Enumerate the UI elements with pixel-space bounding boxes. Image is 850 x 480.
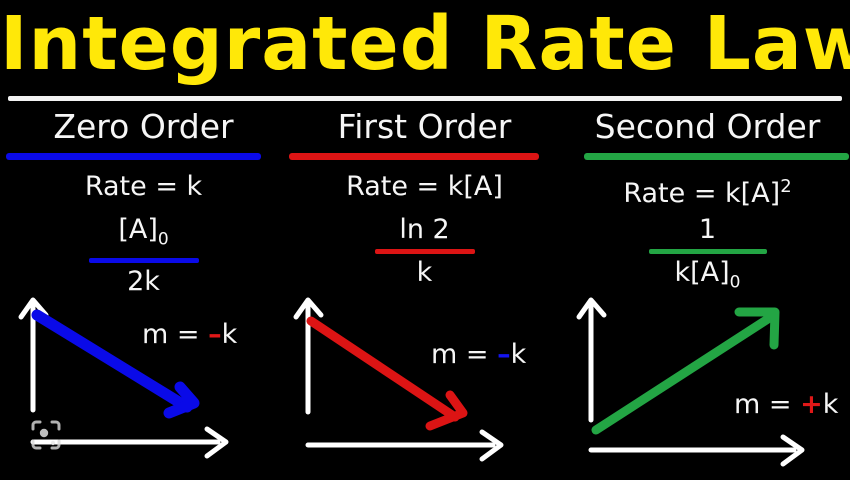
camera-lens-icon	[26, 415, 66, 455]
column-underline	[6, 153, 261, 160]
column-second-order: Second Order Rate = k[A]2 1 k[A]0	[566, 106, 849, 480]
numerator-subscript: 0	[158, 229, 169, 249]
plot-second-order: m = +k	[566, 282, 849, 480]
page-title: Integrated Rate Law	[0, 0, 850, 90]
rate-law-expression: Rate = k	[2, 169, 285, 205]
fraction-numerator: 1	[566, 214, 849, 246]
rate-law-text: Rate = k[A]	[623, 178, 780, 209]
plot-svg	[566, 282, 849, 480]
half-life-fraction: ln 2 k	[283, 214, 566, 289]
slope-variable: k	[222, 319, 238, 350]
plot-first-order: m = –k	[283, 282, 566, 480]
column-heading: First Order	[283, 106, 566, 148]
slope-sign: –	[208, 319, 222, 350]
slope-annotation: m = –k	[431, 340, 526, 370]
numerator-text: ln 2	[399, 214, 449, 245]
fraction-bar	[649, 249, 767, 254]
slope-annotation: m = –k	[142, 320, 237, 350]
numerator-text: [A]	[118, 214, 158, 245]
fraction-numerator: [A]0	[2, 214, 285, 255]
rate-law-expression: Rate = k[A]	[283, 169, 566, 205]
fraction-bar	[89, 258, 199, 263]
column-heading: Zero Order	[2, 106, 285, 148]
column-heading: Second Order	[566, 106, 849, 148]
slope-sign: –	[497, 339, 511, 370]
numerator-text: 1	[699, 214, 716, 245]
rate-law-exponent: 2	[780, 176, 791, 197]
title-divider	[8, 96, 842, 101]
slope-label: m =	[142, 319, 200, 350]
fraction-bar	[375, 249, 475, 254]
column-underline	[584, 153, 849, 160]
fraction-numerator: ln 2	[283, 214, 566, 246]
slope-variable: k	[823, 389, 839, 420]
slope-label: m =	[734, 389, 792, 420]
slope-annotation: m = +k	[734, 390, 838, 420]
slope-label: m =	[431, 339, 489, 370]
rate-law-text: Rate = k[A]	[346, 171, 503, 202]
column-underline	[289, 153, 539, 160]
slope-sign: +	[800, 389, 823, 420]
rate-law-text: Rate = k	[85, 171, 202, 202]
plot-svg	[283, 282, 566, 480]
column-first-order: First Order Rate = k[A] ln 2 k	[283, 106, 566, 480]
slope-variable: k	[511, 339, 527, 370]
rate-law-expression: Rate = k[A]2	[566, 169, 849, 212]
slide-canvas: Integrated Rate Law Zero Order Rate = k …	[0, 0, 850, 480]
